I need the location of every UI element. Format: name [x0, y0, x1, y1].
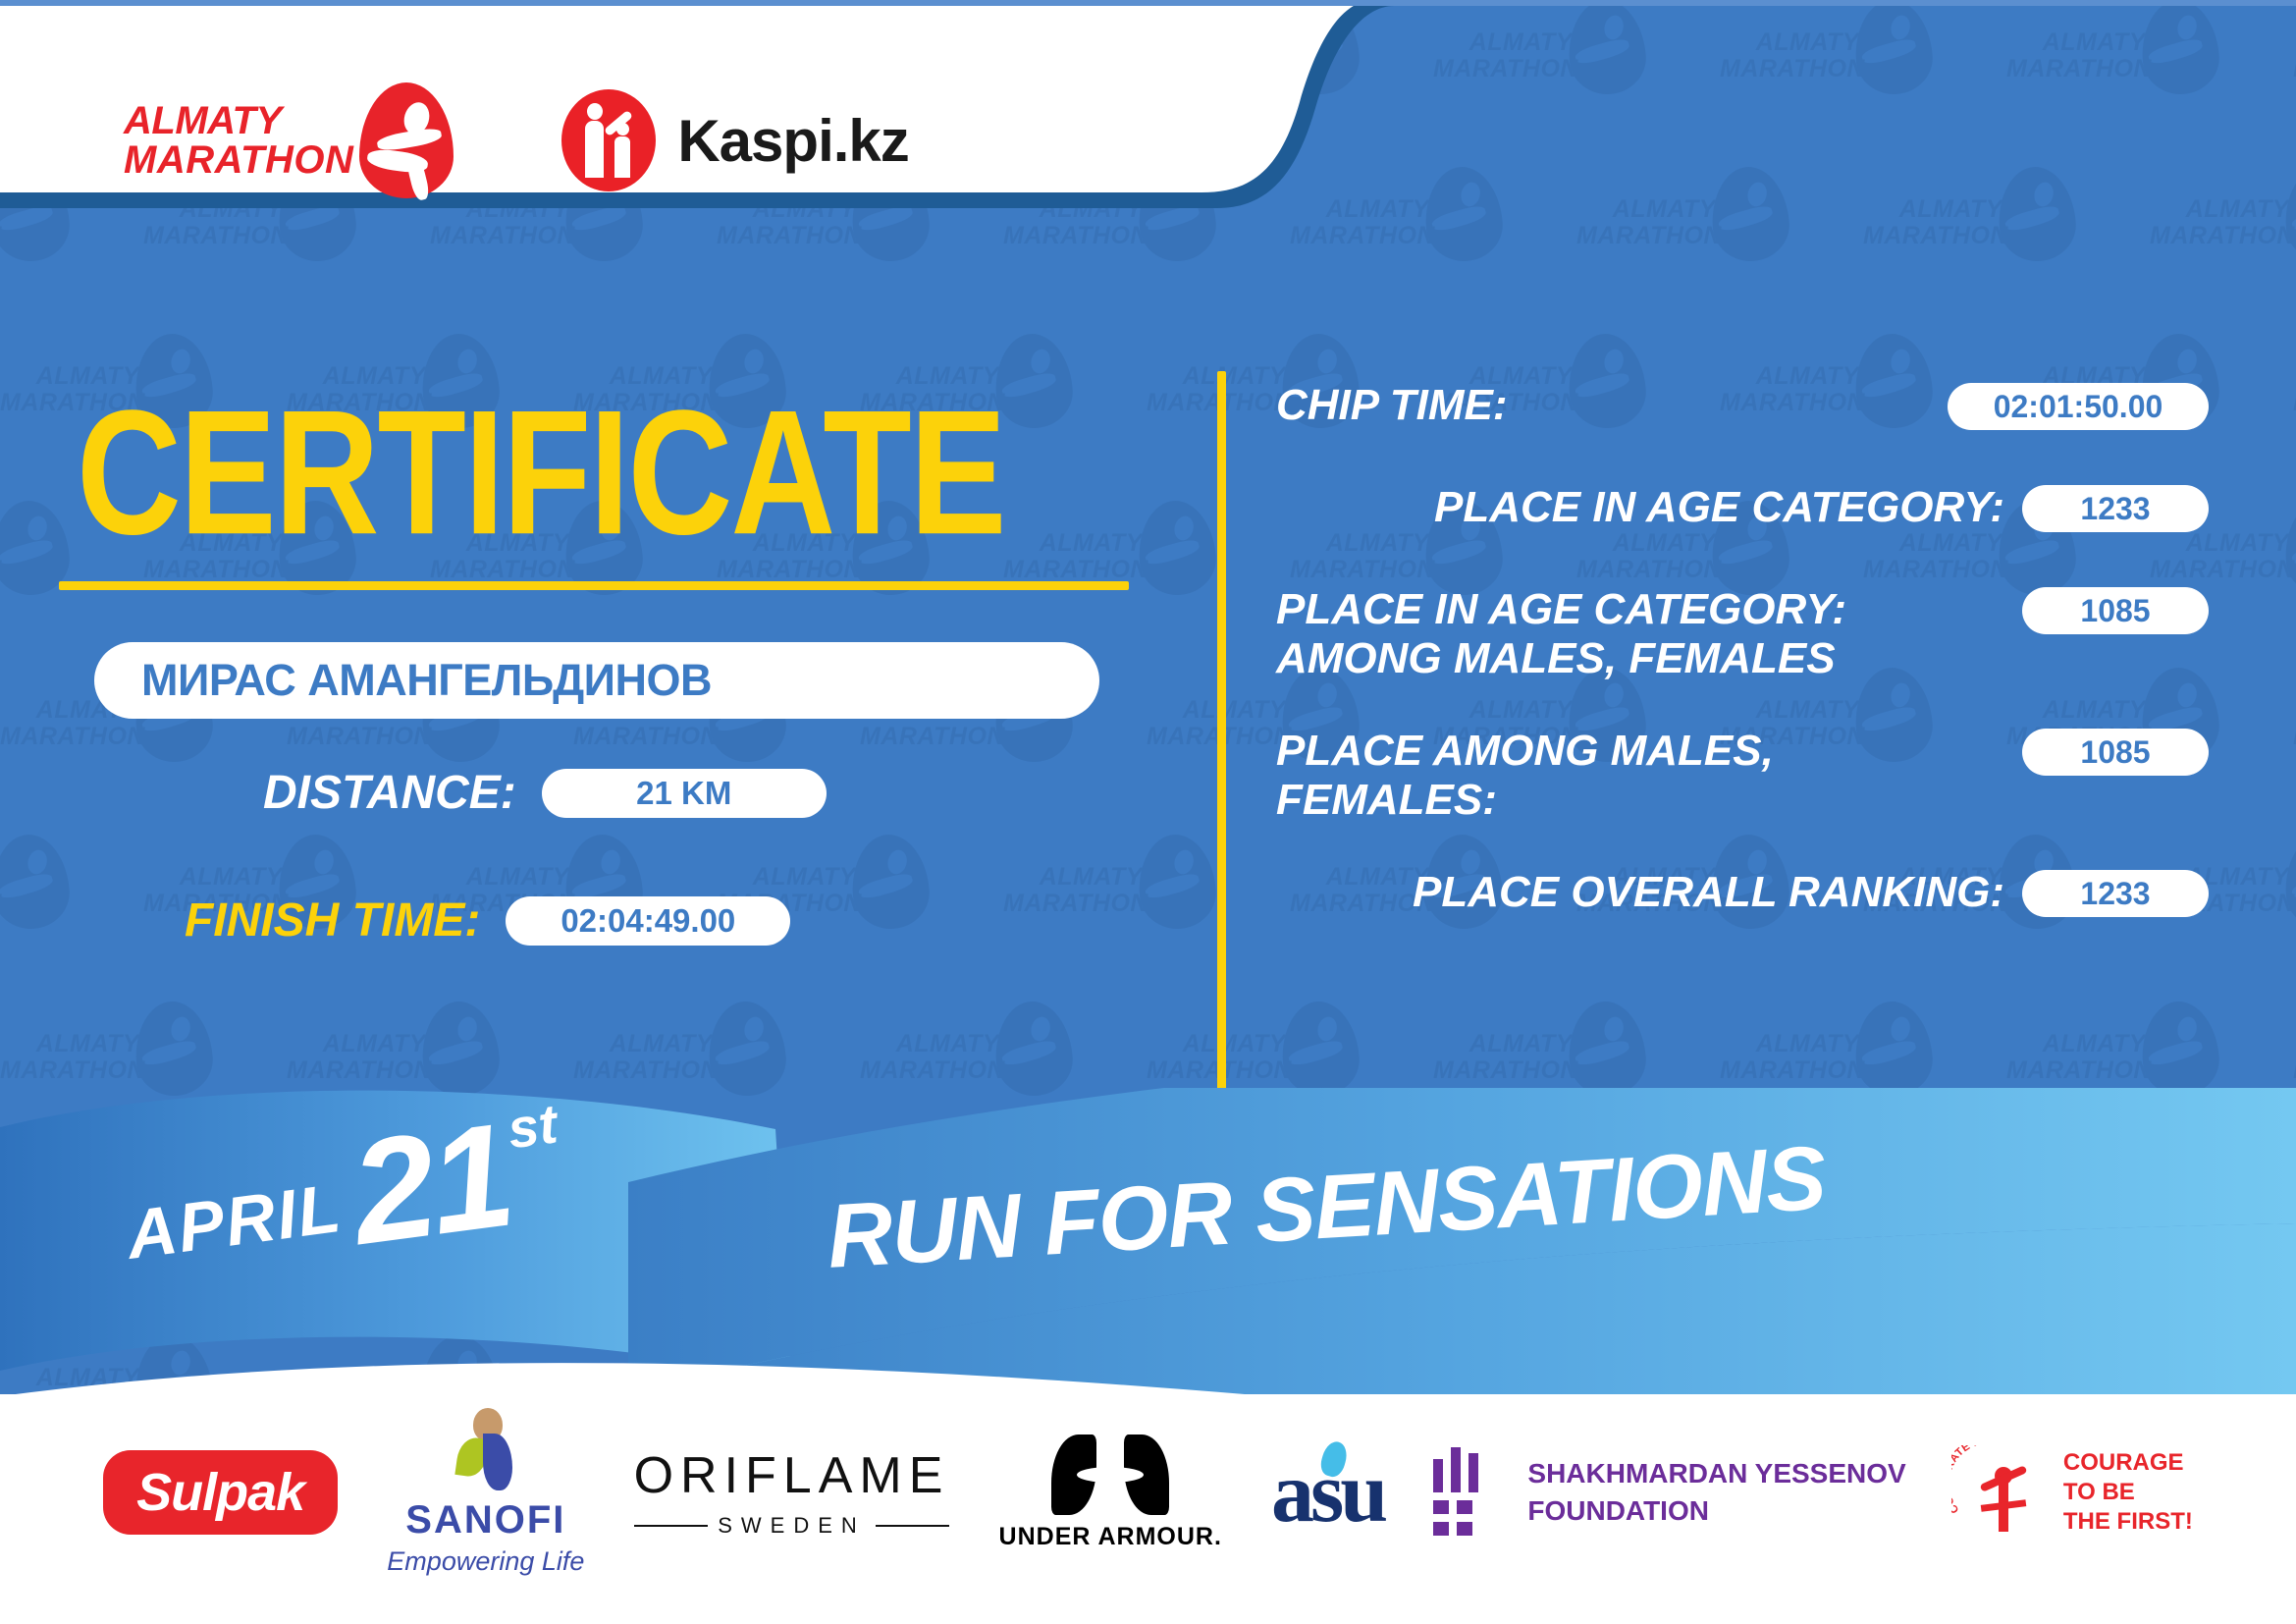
- courage-line2: TO BE: [2063, 1478, 2193, 1507]
- watermark-text: ALMATYMARATHON: [1863, 196, 2002, 249]
- stat-row-place-age-category-gender: PLACE IN AGE CATEGORY: AMONG MALES, FEMA…: [1276, 585, 2209, 683]
- place-among-gender-label-line2: FEMALES:: [1276, 776, 2004, 825]
- watermark-tile: ALMATYMARATHON: [1720, 0, 1936, 118]
- watermark-text: ALMATYMARATHON: [573, 1031, 713, 1084]
- kaspi-figure1-head: [587, 103, 603, 120]
- distance-label: DISTANCE:: [263, 766, 516, 820]
- place-among-gender-label: PLACE AMONG MALES, FEMALES:: [1276, 727, 2022, 825]
- courage-line1: COURAGE: [2063, 1448, 2193, 1478]
- stats-panel: CHIP TIME: 02:01:50.00 PLACE IN AGE CATE…: [1276, 381, 2209, 970]
- place-age-category-value-pill: 1233: [2022, 485, 2209, 532]
- courage-fund-arc-text: CORPORATE FUND: [1951, 1445, 2042, 1536]
- watermark-text: ALMATYMARATHON: [1003, 864, 1143, 917]
- watermark-drop-icon: [2282, 832, 2296, 931]
- place-among-gender-label-line1: PLACE AMONG MALES,: [1276, 727, 2004, 776]
- oriflame-wordmark: ORIFLAME: [634, 1446, 950, 1505]
- watermark-text: ALMATYMARATHON: [0, 1031, 139, 1084]
- finish-time-value-pill: 02:04:49.00: [506, 896, 790, 946]
- oriflame-tagline: SWEDEN: [718, 1513, 866, 1539]
- stat-row-place-overall: PLACE OVERALL RANKING: 1233: [1276, 868, 2209, 927]
- kaspi-wordmark: Kaspi.kz: [677, 107, 908, 175]
- watermark-text: ALMATYMARATHON: [1433, 29, 1573, 82]
- watermark-drop-icon: [1566, 0, 1649, 97]
- watermark-tile: ALMATYMARATHON: [1863, 167, 2079, 285]
- courage-fund-logo: CORPORATE FUND COURAGE TO BE THE FIRST!: [1955, 1441, 2193, 1543]
- place-age-category-gender-value: 1085: [2080, 593, 2150, 629]
- sanofi-icon: [452, 1408, 520, 1492]
- place-overall-label: PLACE OVERALL RANKING:: [1276, 868, 2022, 917]
- watermark-drop-icon: [1422, 164, 1506, 263]
- page-title: CERTIFICATE: [77, 385, 1004, 563]
- top-accent-line: [0, 0, 2296, 6]
- watermark-tile: ALMATYMARATHON: [1576, 167, 1792, 285]
- watermark-drop-icon: [1996, 164, 2079, 263]
- watermark-drop-icon: [2139, 0, 2222, 97]
- watermark-text: ALMATYMARATHON: [287, 1031, 426, 1084]
- watermark-text: ALMATYMARATHON: [1720, 29, 1859, 82]
- place-age-category-value: 1233: [2080, 491, 2150, 527]
- participant-name-field: МИРАС АМАНГЕЛЬДИНОВ: [94, 642, 1099, 719]
- place-overall-value-pill: 1233: [2022, 870, 2209, 917]
- finish-time-row: FINISH TIME: 02:04:49.00: [185, 893, 790, 947]
- watermark-text: ALMATYMARATHON: [1720, 1031, 1859, 1084]
- participant-name-value: МИРАС АМАНГЕЛЬДИНОВ: [141, 655, 712, 706]
- oriflame-rule-right: [876, 1525, 950, 1527]
- watermark-tile: ALMATYMARATHON: [1003, 835, 1219, 952]
- watermark-drop-icon: [1279, 999, 1362, 1098]
- watermark-drop-icon: [992, 999, 1076, 1098]
- sponsor-under-armour: UNDER ARMOUR.: [999, 1435, 1222, 1551]
- watermark-drop-icon: [1136, 498, 1219, 597]
- yessenov-line2: FOUNDATION: [1527, 1492, 1905, 1530]
- watermark-drop-icon: [849, 832, 933, 931]
- oriflame-rule-left: [634, 1525, 709, 1527]
- ua-center-gap: [1077, 1467, 1144, 1483]
- watermark-text: ALMATYMARATHON: [1003, 530, 1143, 583]
- watermark-drop-icon: [1852, 0, 1936, 97]
- certificate-canvas: ALMATYMARATHONALMATYMARATHONALMATYMARATH…: [0, 0, 2296, 1624]
- courage-line3: THE FIRST!: [2063, 1507, 2193, 1537]
- almaty-marathon-logo: ALMATY MARATHON: [124, 82, 454, 198]
- yessenov-line1: SHAKHMARDAN YESSENOV: [1527, 1455, 1905, 1492]
- vertical-divider: [1217, 371, 1226, 1098]
- watermark-tile: ALMATYMARATHON: [0, 501, 73, 619]
- watermark-drop-icon: [133, 999, 216, 1098]
- distance-value-pill: 21 KM: [542, 769, 827, 818]
- watermark-tile: ALMATYMARATHON: [2006, 0, 2222, 118]
- watermark-text: ALMATYMARATHON: [2150, 196, 2289, 249]
- place-age-category-gender-label-line2: AMONG MALES, FEMALES: [1276, 634, 2004, 683]
- sanofi-tagline: Empowering Life: [387, 1546, 584, 1577]
- sponsor-bar: Sulpak SANOFI Empowering Life ORIFLAME S…: [0, 1394, 2296, 1624]
- kaspi-figure1-body: [585, 121, 604, 178]
- watermark-text: ALMATYMARATHON: [1433, 1031, 1573, 1084]
- stat-row-place-among-gender: PLACE AMONG MALES, FEMALES: 1085: [1276, 727, 2209, 825]
- sanofi-wordmark: SANOFI: [405, 1498, 565, 1543]
- watermark-tile: ALMATYMARATHON: [0, 835, 73, 952]
- place-age-category-label: PLACE IN AGE CATEGORY:: [1276, 483, 2022, 532]
- watermark-drop-icon: [2282, 164, 2296, 263]
- sponsor-yessenov-foundation: SHAKHMARDAN YESSENOV FOUNDATION: [1433, 1447, 1905, 1538]
- watermark-drop-icon: [0, 832, 72, 931]
- watermark-drop-icon: [2139, 999, 2222, 1098]
- under-armour-wordmark: UNDER ARMOUR.: [999, 1523, 1222, 1551]
- kaspi-figure2-body: [614, 136, 630, 178]
- sulpak-logo: Sulpak: [103, 1450, 338, 1535]
- sponsor-asu: asu: [1271, 1443, 1384, 1543]
- chip-time-value: 02:01:50.00: [1994, 389, 2163, 425]
- event-day: 21: [346, 1111, 516, 1257]
- place-among-gender-value-pill: 1085: [2022, 729, 2209, 776]
- watermark-drop-icon: [419, 999, 503, 1098]
- sponsor-oriflame: ORIFLAME SWEDEN: [634, 1446, 950, 1539]
- yessenov-logo: SHAKHMARDAN YESSENOV FOUNDATION: [1433, 1447, 1905, 1538]
- place-age-category-gender-label-line1: PLACE IN AGE CATEGORY:: [1276, 585, 2004, 634]
- finish-time-value: 02:04:49.00: [561, 902, 735, 940]
- kaspi-logo: Kaspi.kz: [561, 89, 908, 191]
- under-armour-icon: [1051, 1435, 1169, 1515]
- watermark-drop-icon: [1852, 999, 1936, 1098]
- yessenov-wordmark: SHAKHMARDAN YESSENOV FOUNDATION: [1527, 1455, 1905, 1530]
- watermark-text: ALMATYMARATHON: [860, 1031, 999, 1084]
- watermark-tile: ALMATYMARATHON: [2150, 167, 2296, 285]
- watermark-drop-icon: [1709, 164, 1792, 263]
- watermark-text: ALMATYMARATHON: [1576, 196, 1716, 249]
- watermark-drop-icon: [706, 999, 789, 1098]
- runner-drop-icon: [359, 82, 454, 198]
- yessenov-bars-icon: [1433, 1447, 1504, 1538]
- oriflame-tagline-row: SWEDEN: [634, 1513, 950, 1539]
- watermark-drop-icon: [2282, 498, 2296, 597]
- asu-wordmark: asu: [1271, 1443, 1384, 1543]
- stat-row-place-age-category: PLACE IN AGE CATEGORY: 1233: [1276, 483, 2209, 542]
- watermark-text: ALMATYMARATHON: [1147, 1031, 1286, 1084]
- watermark-text: ALMATYMARATHON: [2006, 29, 2146, 82]
- kaspi-people-icon: [561, 89, 656, 191]
- watermark-drop-icon: [1136, 832, 1219, 931]
- sanofi-body-shape: [483, 1434, 512, 1490]
- watermark-tile: ALMATYMARATHON: [1003, 501, 1219, 619]
- distance-row: DISTANCE: 21 KM: [263, 766, 827, 820]
- courage-fund-icon: CORPORATE FUND: [1955, 1441, 2050, 1543]
- sponsor-sulpak: Sulpak: [103, 1450, 338, 1535]
- watermark-text: ALMATYMARATHON: [1147, 363, 1286, 416]
- title-underline: [59, 581, 1129, 590]
- almaty-marathon-wordmark: ALMATY MARATHON: [124, 101, 353, 180]
- courage-fund-wordmark: COURAGE TO BE THE FIRST!: [2063, 1448, 2193, 1537]
- watermark-text: ALMATYMARATHON: [1147, 697, 1286, 750]
- chip-time-value-pill: 02:01:50.00: [1948, 383, 2209, 430]
- stat-row-chip-time: CHIP TIME: 02:01:50.00: [1276, 381, 2209, 440]
- place-among-gender-value: 1085: [2080, 734, 2150, 771]
- watermark-tile: ALMATYMARATHON: [1433, 0, 1649, 118]
- place-overall-value: 1233: [2080, 876, 2150, 912]
- watermark-drop-icon: [992, 331, 1076, 430]
- watermark-text: ALMATYMARATHON: [2006, 1031, 2146, 1084]
- chip-time-label: CHIP TIME:: [1276, 381, 1948, 430]
- place-age-category-gender-value-pill: 1085: [2022, 587, 2209, 634]
- kaspi-figure2-head: [616, 123, 629, 135]
- distance-value: 21 KM: [636, 775, 731, 812]
- header-logos: ALMATY MARATHON Kaspi.kz: [0, 0, 1276, 281]
- watermark-drop-icon: [1566, 999, 1649, 1098]
- almaty-marathon-line2: MARATHON: [124, 140, 353, 180]
- sponsor-sanofi: SANOFI Empowering Life: [387, 1408, 584, 1577]
- sponsor-courage-fund: CORPORATE FUND COURAGE TO BE THE FIRST!: [1955, 1441, 2193, 1543]
- almaty-marathon-line1: ALMATY: [124, 101, 353, 140]
- place-age-category-gender-label: PLACE IN AGE CATEGORY: AMONG MALES, FEMA…: [1276, 585, 2022, 683]
- finish-time-label: FINISH TIME:: [185, 893, 480, 947]
